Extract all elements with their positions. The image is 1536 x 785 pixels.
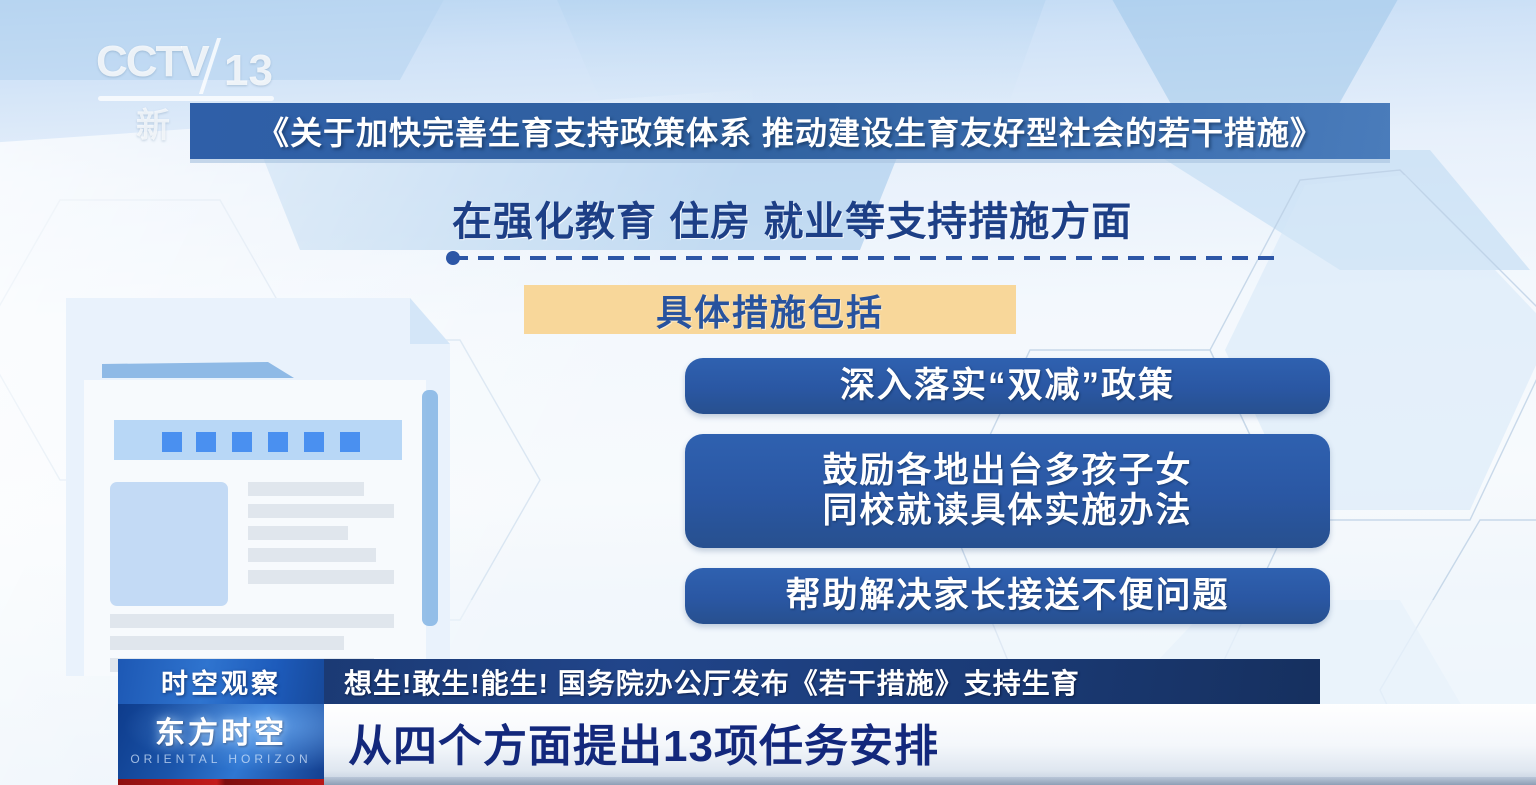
- program-name-cn: 东方时空: [155, 719, 287, 749]
- news-subheadline-text: 从四个方面提出13项任务安排: [348, 710, 939, 774]
- measure-pill: 深入落实“双减”政策: [685, 358, 1330, 414]
- news-headline-text: 想生!敢生!能生! 国务院办公厅发布《若干措施》支持生育: [344, 662, 1080, 702]
- program-logo-block: 东方时空 ORIENTAL HORIZON: [118, 704, 324, 779]
- section-heading: 在强化教育 住房 就业等支持措施方面: [452, 200, 1282, 244]
- policy-title-banner: 《关于加快完善生育支持政策体系 推动建设生育友好型社会的若干措施》: [190, 103, 1390, 159]
- measure-pill: 鼓励各地出台多孩子女 同校就读具体实施办法: [685, 434, 1330, 548]
- measures-label-text: 具体措施包括: [656, 284, 884, 336]
- policy-title-text: 《关于加快完善生育支持政策体系 推动建设生育友好型社会的若干措施》: [257, 108, 1323, 154]
- program-logo-red-strip: [118, 779, 324, 785]
- lower-third-left-gap: [0, 659, 118, 785]
- measure-line: 深入落实“双减”政策: [840, 366, 1175, 406]
- broadcast-screen: CCTV 13 新: [0, 0, 1536, 785]
- news-subheadline-bar: 从四个方面提出13项任务安排: [324, 704, 1536, 779]
- section-heading-text: 在强化教育 住房 就业等支持措施方面: [452, 200, 1282, 244]
- document-illustration: [58, 292, 458, 682]
- lower-third: 时空观察 东方时空 ORIENTAL HORIZON 想生!敢生!能生! 国务院…: [0, 659, 1536, 785]
- segment-label-text: 时空观察: [161, 662, 281, 701]
- measure-line: 鼓励各地出台多孩子女: [822, 451, 1192, 491]
- news-subheadline-bottom-edge: [324, 777, 1536, 785]
- measure-pill: 帮助解决家长接送不便问题: [685, 568, 1330, 624]
- measure-line: 帮助解决家长接送不便问题: [785, 576, 1229, 616]
- heading-dashed-rule: [452, 256, 1274, 260]
- news-headline-bar: 想生!敢生!能生! 国务院办公厅发布《若干措施》支持生育: [324, 659, 1320, 704]
- program-name-en: ORIENTAL HORIZON: [130, 753, 311, 765]
- measure-line: 同校就读具体实施办法: [822, 491, 1192, 531]
- measures-label-band: 具体措施包括: [524, 285, 1016, 334]
- segment-label-block: 时空观察: [118, 659, 324, 704]
